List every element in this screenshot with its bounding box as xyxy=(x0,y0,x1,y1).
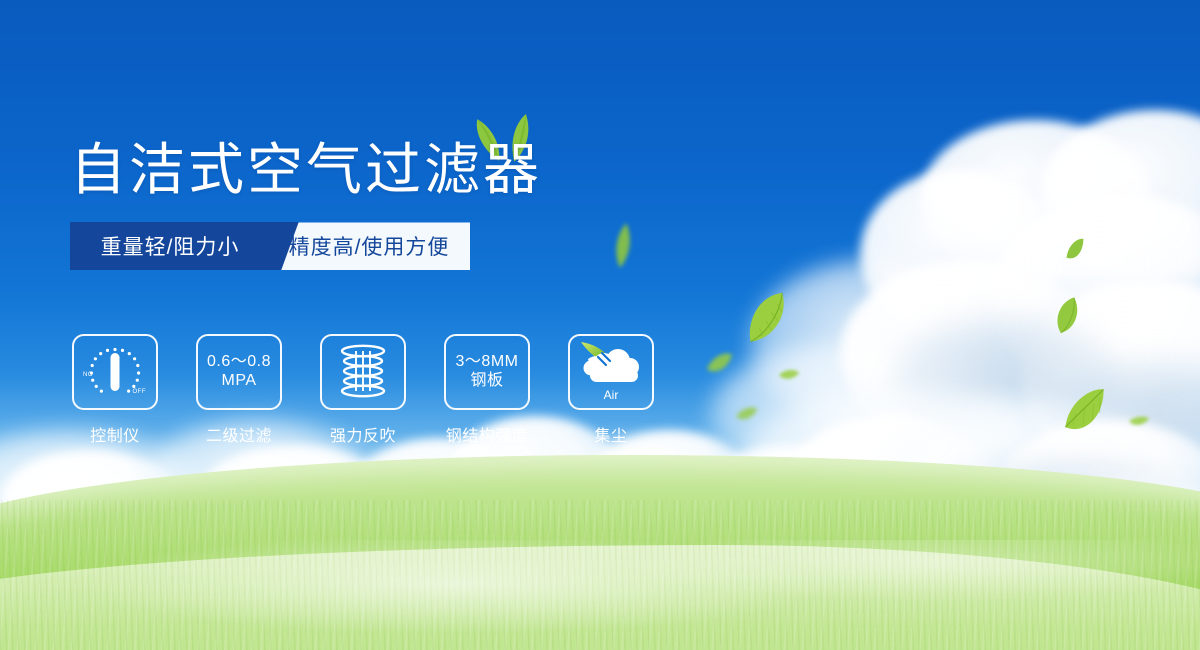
cumulus-cloud-right xyxy=(740,110,1200,490)
subtitle-left-text: 重量轻/阻力小 xyxy=(101,231,240,261)
subtitle-right-text: 精度高/使用方便 xyxy=(289,231,450,261)
grass-sheen-highlight xyxy=(0,540,1200,650)
air-cloud-icon: Air xyxy=(568,334,654,410)
feature-item-pressure[interactable]: 0.6〜0.8 MPA 二级过滤 xyxy=(196,334,282,446)
banner-content: 自洁式空气过滤器 重量轻/阻力小 精度高/使用方便 xyxy=(70,140,750,270)
leaf-floating-3 xyxy=(703,349,738,380)
grass-hill xyxy=(0,455,1200,650)
feature-label-steel: 钢结构强度 xyxy=(444,422,530,446)
grass-foreground xyxy=(0,545,1200,650)
pressure-text-icon: 0.6〜0.8 MPA xyxy=(196,334,282,410)
feature-label-dust: 集尘 xyxy=(568,422,654,446)
feature-label-control: 控制仪 xyxy=(72,422,158,446)
control-dial-icon: NO OFF xyxy=(72,334,158,410)
filter-coil-icon xyxy=(320,334,406,410)
dial-on-label: NO xyxy=(83,372,93,378)
pressure-value: 0.6〜0.8 MPA xyxy=(207,353,271,391)
page-title: 自洁式空气过滤器 xyxy=(70,140,750,200)
subtitle-bar: 重量轻/阻力小 精度高/使用方便 xyxy=(70,222,470,270)
product-banner: 自洁式空气过滤器 重量轻/阻力小 精度高/使用方便 xyxy=(0,0,1200,650)
feature-item-steel[interactable]: 3〜8MM 钢板 钢结构强度 xyxy=(444,334,530,446)
subtitle-right-badge: 精度高/使用方便 xyxy=(268,222,470,270)
leaf-floating-4 xyxy=(777,367,800,383)
feature-list: NO OFF 控制仪 0.6〜0.8 MPA 二级过滤 xyxy=(72,334,654,446)
grass-texture-overlay xyxy=(0,500,1200,650)
feature-label-blowback: 强力反吹 xyxy=(320,422,406,446)
grass-far-field xyxy=(0,470,1200,650)
air-label: Air xyxy=(570,388,652,402)
feature-label-pressure: 二级过滤 xyxy=(196,422,282,446)
leaf-floating-9 xyxy=(1128,414,1151,428)
leaf-floating-8 xyxy=(1054,383,1118,443)
feature-item-blowback[interactable]: 强力反吹 xyxy=(320,334,406,446)
dial-off-label: OFF xyxy=(133,389,147,395)
leaf-floating-5 xyxy=(734,404,760,423)
steel-plate-text-icon: 3〜8MM 钢板 xyxy=(444,334,530,410)
leaf-floating-6 xyxy=(1060,235,1093,265)
feature-item-dust[interactable]: Air 集尘 xyxy=(568,334,654,446)
steel-plate-value: 3〜8MM 钢板 xyxy=(456,353,519,391)
feature-item-control[interactable]: NO OFF 控制仪 xyxy=(72,334,158,446)
leaf-floating-7 xyxy=(1046,291,1089,339)
leaf-floating-2 xyxy=(731,280,800,355)
subtitle-left-badge: 重量轻/阻力小 xyxy=(70,222,270,270)
cumulus-cloud-right-horizon xyxy=(700,390,1200,580)
